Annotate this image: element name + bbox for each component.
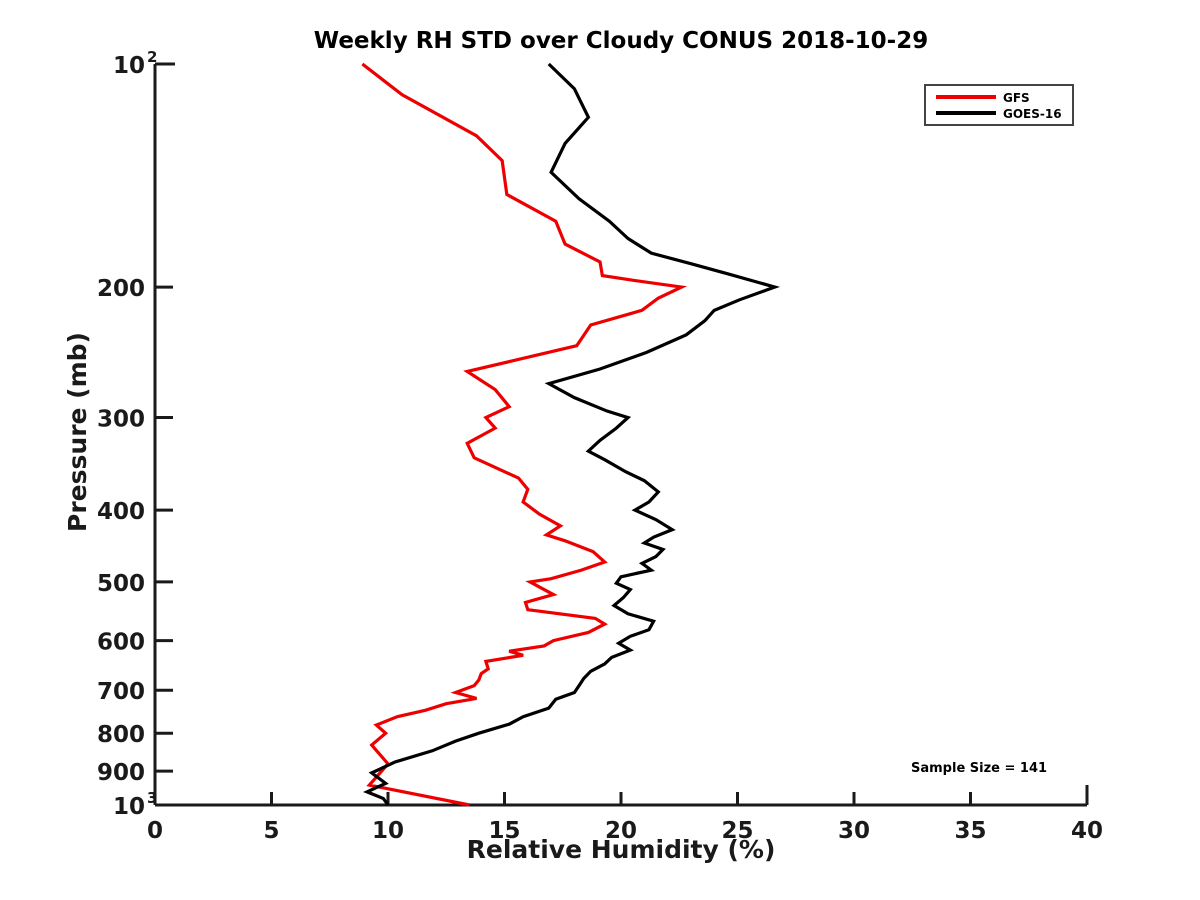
legend[interactable]: GFS GOES-16 xyxy=(925,85,1073,125)
y-tick-label: 900 xyxy=(97,760,145,786)
y-tick-label: 600 xyxy=(97,630,145,656)
y-tick-label: 200 xyxy=(97,276,145,302)
y-tick-label: 10 xyxy=(113,794,145,820)
y-tick-label: 800 xyxy=(97,722,145,748)
x-tick-label: 40 xyxy=(1071,818,1103,844)
legend-label-goes16: GOES-16 xyxy=(1003,107,1062,121)
y-tick-label: 400 xyxy=(97,499,145,525)
x-tick-label: 5 xyxy=(263,818,279,844)
x-tick-label: 10 xyxy=(372,818,404,844)
y-tick-exponent: 3 xyxy=(147,789,157,807)
y-tick-label: 700 xyxy=(97,679,145,705)
legend-label-gfs: GFS xyxy=(1003,91,1030,105)
y-tick-label: 10 xyxy=(113,53,145,79)
sample-size-annotation: Sample Size = 141 xyxy=(911,761,1047,776)
y-tick-label: 300 xyxy=(97,407,145,433)
x-tick-label: 30 xyxy=(838,818,870,844)
x-axis-label: Relative Humidity (%) xyxy=(467,835,776,864)
chart-canvas: Weekly RH STD over Cloudy CONUS 2018-10-… xyxy=(0,0,1200,900)
y-tick-exponent: 2 xyxy=(147,48,157,66)
rh-std-profile-chart: Weekly RH STD over Cloudy CONUS 2018-10-… xyxy=(0,0,1200,900)
x-tick-label: 35 xyxy=(954,818,986,844)
y-tick-label: 500 xyxy=(97,571,145,597)
x-tick-label: 0 xyxy=(147,818,163,844)
y-axis-label: Pressure (mb) xyxy=(63,332,92,532)
page-title: Weekly RH STD over Cloudy CONUS 2018-10-… xyxy=(314,28,928,54)
